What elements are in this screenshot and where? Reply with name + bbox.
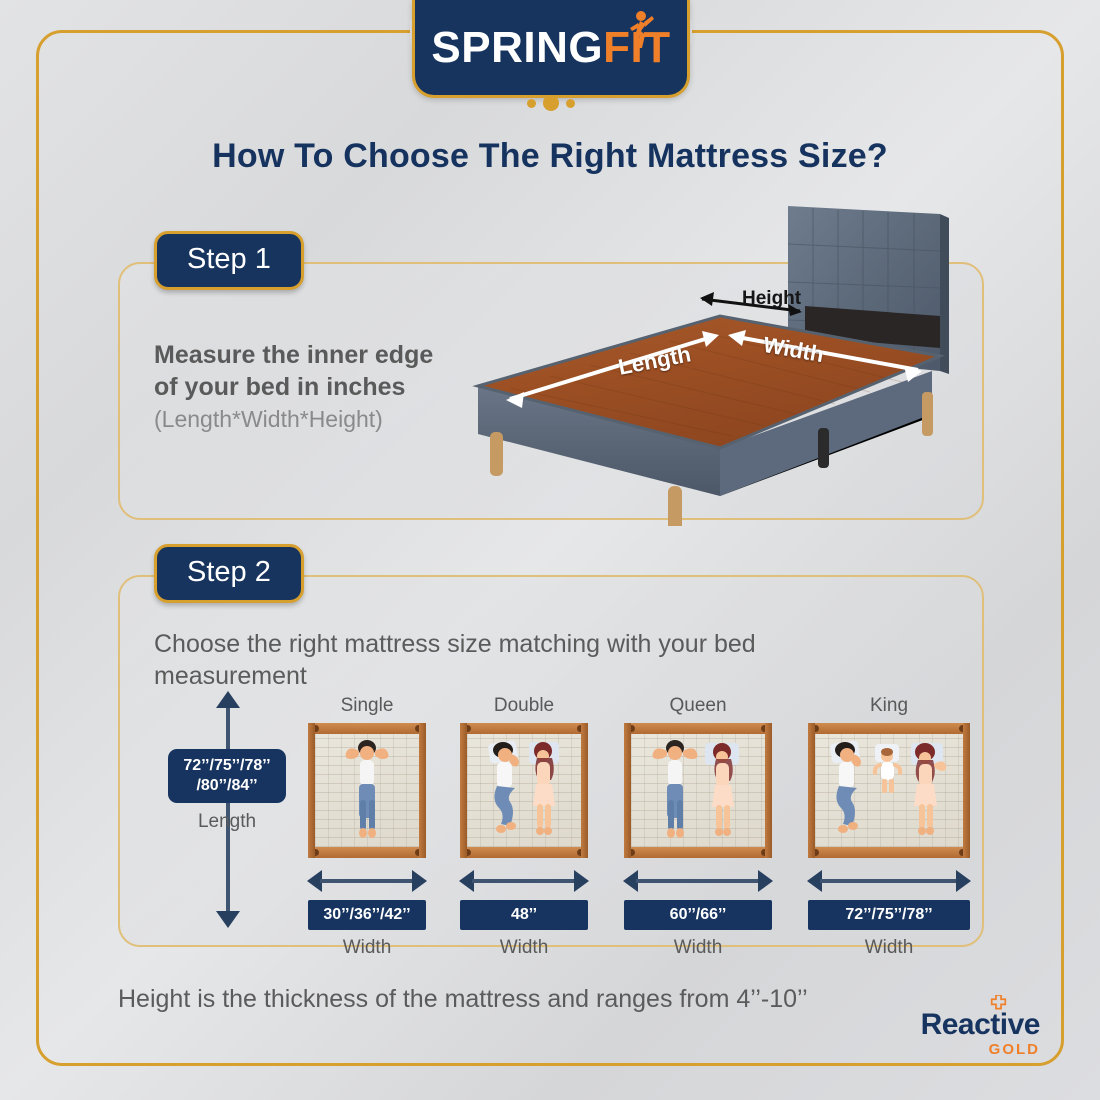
arrow-head-right-icon: [956, 870, 971, 892]
length-value-line-1: 72’’/75’’/78’’: [170, 756, 284, 776]
reactive-wordmark: Reactive: [921, 1010, 1040, 1040]
mattress-side-right: [419, 723, 426, 858]
brand-logo-text: SPRING FIT: [431, 26, 670, 70]
arrow-head-right-icon: [412, 870, 427, 892]
length-value-chip: 72’’/75’’/78’’ /80’’/84’’: [168, 749, 286, 803]
step-1-line-2: of your bed in inches: [154, 371, 484, 403]
step-2-instructions: Choose the right mattress size matching …: [154, 629, 894, 692]
mattress-rail-bottom: [808, 847, 970, 858]
mattress-rail-top: [624, 723, 772, 734]
bed-illustration: Height Length Width: [470, 196, 990, 526]
step-1-formula: (Length*Width*Height): [154, 405, 484, 434]
mattress-size-comparison: 72’’/75’’/78’’ /80’’/84’’ Length Single: [140, 695, 970, 935]
reactive-word-i: i: [1000, 1008, 1008, 1041]
width-caption-king: Width: [808, 937, 970, 959]
mattress-side-right: [963, 723, 970, 858]
mattress-side-left: [308, 723, 315, 858]
width-arrow-single: [308, 870, 426, 892]
logo-accent-text: FIT: [603, 26, 670, 70]
dot-center: [543, 95, 559, 111]
sleeper-figures-king: [815, 734, 963, 847]
page-title-regular: How To Choose The: [212, 137, 549, 175]
step-1-instructions: Measure the inner edge of your bed in in…: [154, 339, 484, 434]
mattress-rail-top: [308, 723, 426, 734]
width-arrow-queen: [624, 870, 772, 892]
reactive-word-head: React: [921, 1008, 1000, 1041]
width-value-double: 48’’: [460, 900, 588, 930]
width-caption-double: Width: [460, 937, 588, 959]
sleeper-figures-double: [467, 734, 581, 847]
reactive-gold-product-logo: Reactive GOLD: [921, 1010, 1040, 1058]
width-arrow-king: [808, 870, 970, 892]
mattress-column-queen[interactable]: Queen: [624, 695, 772, 959]
mattress-rail-top: [460, 723, 588, 734]
length-arrow-up-icon: [216, 691, 240, 708]
mattress-illustration-double: [460, 723, 588, 858]
mattress-surface: [631, 734, 765, 847]
reactive-word-tail: ve: [1008, 1008, 1040, 1041]
bed-svg: [470, 196, 990, 526]
mattress-side-left: [808, 723, 815, 858]
mattress-surface: [467, 734, 581, 847]
decorative-dots: [497, 93, 605, 113]
footer-note: Height is the thickness of the mattress …: [118, 985, 818, 1014]
logo-primary-text: SPRING: [431, 26, 603, 70]
width-value-king: 72’’/75’’/78’’: [808, 900, 970, 930]
mattress-column-single[interactable]: Single: [308, 695, 426, 959]
mattress-title-queen: Queen: [624, 695, 772, 717]
mattress-surface: [315, 734, 419, 847]
figure-man: [346, 740, 389, 838]
mattress-title-king: King: [808, 695, 970, 717]
length-axis-line: [226, 705, 230, 915]
width-value-single: 30’’/36’’/42’’: [308, 900, 426, 930]
width-arrow-double: [460, 870, 588, 892]
page-title: How To Choose The Right Mattress Size?: [0, 137, 1100, 176]
mattress-rail-bottom: [624, 847, 772, 858]
dot-left: [527, 99, 536, 108]
step-1-badge: Step 1: [154, 231, 304, 290]
step-1-line-1: Measure the inner edge: [154, 339, 484, 371]
running-figure-icon: [628, 10, 654, 50]
mattress-illustration-single: [308, 723, 426, 858]
mattress-illustration-queen: [624, 723, 772, 858]
figure-man: [653, 740, 698, 838]
mattress-surface: [815, 734, 963, 847]
length-arrow-down-icon: [216, 911, 240, 928]
width-caption-single: Width: [308, 937, 426, 959]
mattress-rail-top: [808, 723, 970, 734]
step-2-badge: Step 2: [154, 544, 304, 603]
mattress-side-right: [581, 723, 588, 858]
mattress-column-double[interactable]: Double: [460, 695, 588, 959]
dot-right: [566, 99, 575, 108]
mattress-title-double: Double: [460, 695, 588, 717]
plus-cross-icon: [990, 995, 1007, 1012]
arrow-head-right-icon: [758, 870, 773, 892]
width-value-queen: 60’’/66’’: [624, 900, 772, 930]
arrow-head-right-icon: [574, 870, 589, 892]
page-title-bold: Right Mattress Size?: [549, 137, 887, 175]
mattress-title-single: Single: [308, 695, 426, 717]
mattress-side-right: [765, 723, 772, 858]
length-gauge: 72’’/75’’/78’’ /80’’/84’’ Length: [168, 697, 286, 922]
step-2-panel: Step 2 Choose the right mattress size ma…: [118, 575, 984, 947]
length-value-line-2: /80’’/84’’: [170, 776, 284, 796]
width-caption-queen: Width: [624, 937, 772, 959]
sleeper-figures-single: [315, 734, 419, 847]
brand-logo-badge: SPRING FIT: [412, 0, 690, 98]
mattress-side-left: [624, 723, 631, 858]
mattress-side-left: [460, 723, 467, 858]
sleeper-figures-queen: [631, 734, 765, 847]
reactive-gold-sublabel: GOLD: [921, 1041, 1040, 1058]
mattress-illustration-king: [808, 723, 970, 858]
step-1-panel: Step 1 Measure the inner edge of your be…: [118, 262, 984, 520]
mattress-rail-bottom: [460, 847, 588, 858]
mattress-rail-bottom: [308, 847, 426, 858]
mattress-column-king[interactable]: King: [808, 695, 970, 959]
length-caption: Length: [168, 811, 286, 833]
